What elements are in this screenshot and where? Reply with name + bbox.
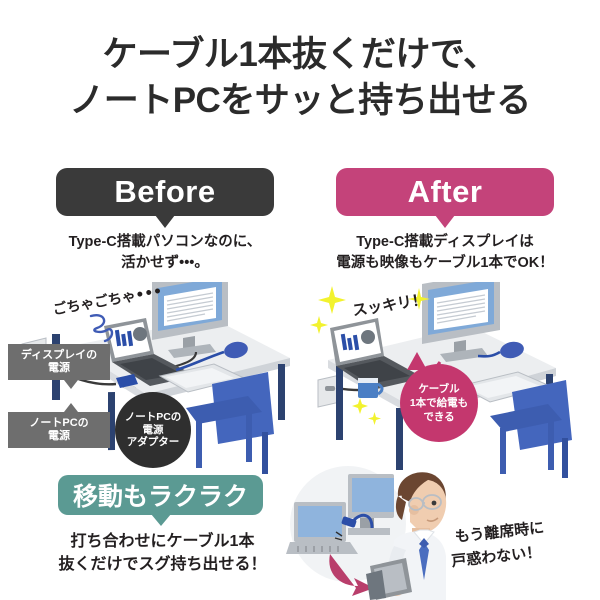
label-display-power-line-2: 電源 [12,362,106,375]
move-caption: 打ち合わせにケーブル1本 抜くだけでスグ持ち出せる！ [45,531,280,576]
sparkle-icon-lower-2 [368,412,381,425]
move-caption-line-2: 抜くだけでスグ持ち出せる！ [45,554,280,577]
label-laptop-power: ノートPCの 電源 [8,412,110,448]
desk-leg-back-right [278,364,285,420]
messy-scribble-icon [85,312,125,346]
after-banner-label: After [408,174,483,210]
unplug-and-go-illustration [286,462,600,600]
eye [432,501,437,506]
desk-leg-left-after [336,366,343,440]
label-adapter-line-1: ノートPCの [125,411,182,424]
before-caption-line-2: 活かせず•••。 [45,253,285,274]
headline-line-1: ケーブル1本抜くだけで、 [103,35,498,74]
before-banner-label: Before [114,174,215,210]
sparkle-icon-large [318,286,346,314]
move-caption-line-1: 打ち合わせにケーブル1本 [45,531,280,554]
label-laptop-power-line-2: 電源 [12,430,106,443]
label-adapter-line-3: アダプター [127,436,180,449]
circle-line-3: できる [423,410,454,424]
move-banner-label: 移動もラクラク [73,477,248,513]
label-laptop-power-line-1: ノートPCの [12,417,106,430]
before-caption: Type-C搭載パソコンなのに、 活かせず•••。 [45,232,285,274]
after-banner: After [336,168,554,216]
infographic-page: ケーブル1本抜くだけで、 ノートPCをサッと持ち出せる Before Type-… [0,0,600,600]
before-banner-tail [155,215,175,228]
label-adapter-line-2: 電源 [143,424,164,437]
page-title: ケーブル1本抜くだけで、 ノートPCをサッと持ち出せる [0,32,600,123]
circle-line-1: ケーブル [418,382,459,396]
circle-line-2: 1本で給電も [410,396,468,410]
bottom-callout: もう離席時に 戸惑わない！ [454,515,548,572]
move-banner-tail [151,514,171,526]
headline-line-2: ノートPCをサッと持ち出せる [0,78,600,124]
before-caption-line-1: Type-C搭載パソコンなのに、 [45,232,285,253]
before-banner: Before [56,168,274,216]
label-display-power-line-1: ディスプレイの [12,349,106,362]
circle-callout-tail [405,352,429,370]
after-caption-line-2: 電源も映像もケーブル1本でOK！ [325,253,565,274]
label-display-power: ディスプレイの 電源 [8,344,110,380]
label-power-adapter: ノートPCの 電源 アダプター [115,392,191,468]
sparkle-icon-lower-1 [352,398,368,414]
sparkle-icon-small [310,316,328,334]
after-caption: Type-C搭載ディスプレイは 電源も映像もケーブル1本でOK！ [325,232,565,274]
move-banner: 移動もラクラク [58,475,263,515]
label-single-cable-power: ケーブル 1本で給電も できる [400,364,478,442]
after-banner-tail [435,215,455,228]
after-caption-line-1: Type-C搭載ディスプレイは [325,232,565,253]
